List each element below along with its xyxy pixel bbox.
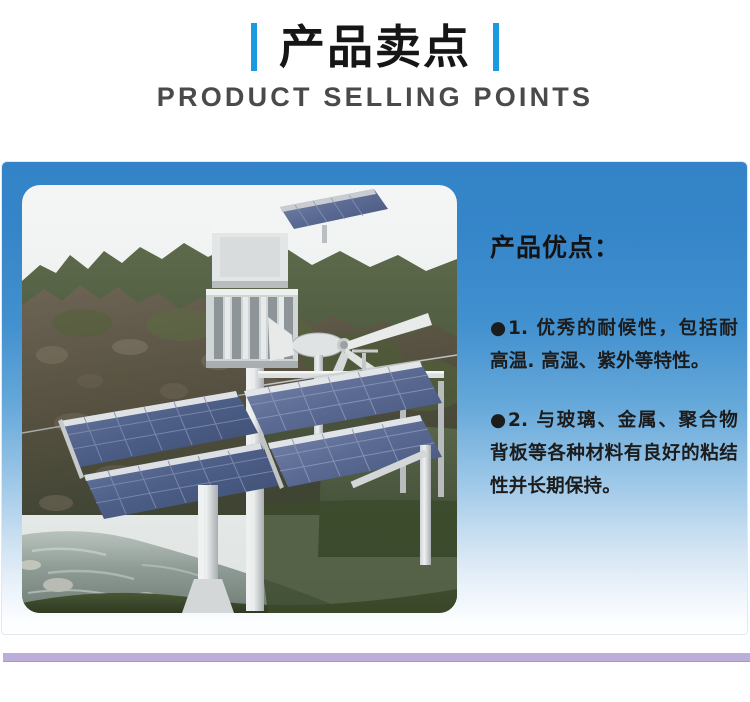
page-subtitle: PRODUCT SELLING POINTS	[0, 82, 750, 113]
product-highlight-panel: 产品优点： ●1. 优秀的耐候性，包括耐高温. 高湿、紫外等特性。 ●2. 与玻…	[2, 162, 747, 634]
title-accent-bar-right	[493, 23, 499, 71]
page-title: 产品卖点	[279, 22, 471, 72]
equipment-enclosure	[212, 225, 288, 288]
title-accent-bar-left	[251, 23, 257, 71]
product-photo-illustration	[22, 185, 457, 613]
advantage-item-2: ●2. 与玻璃、金属、聚合物背板等各种材料有良好的粘结性并长期保持。	[490, 404, 738, 503]
advantage-item-1: ●1. 优秀的耐候性，包括耐高温. 高湿、紫外等特性。	[490, 312, 738, 378]
brace-leg-right	[420, 445, 431, 565]
advantages-heading: 产品优点：	[490, 232, 740, 264]
page-header: 产品卖点 PRODUCT SELLING POINTS	[0, 0, 750, 150]
footer-divider	[3, 653, 750, 661]
product-advantages: 产品优点： ●1. 优秀的耐候性，包括耐高温. 高湿、紫外等特性。 ●2. 与玻…	[490, 232, 740, 503]
page-title-row: 产品卖点	[0, 18, 750, 76]
product-photo	[22, 185, 457, 613]
